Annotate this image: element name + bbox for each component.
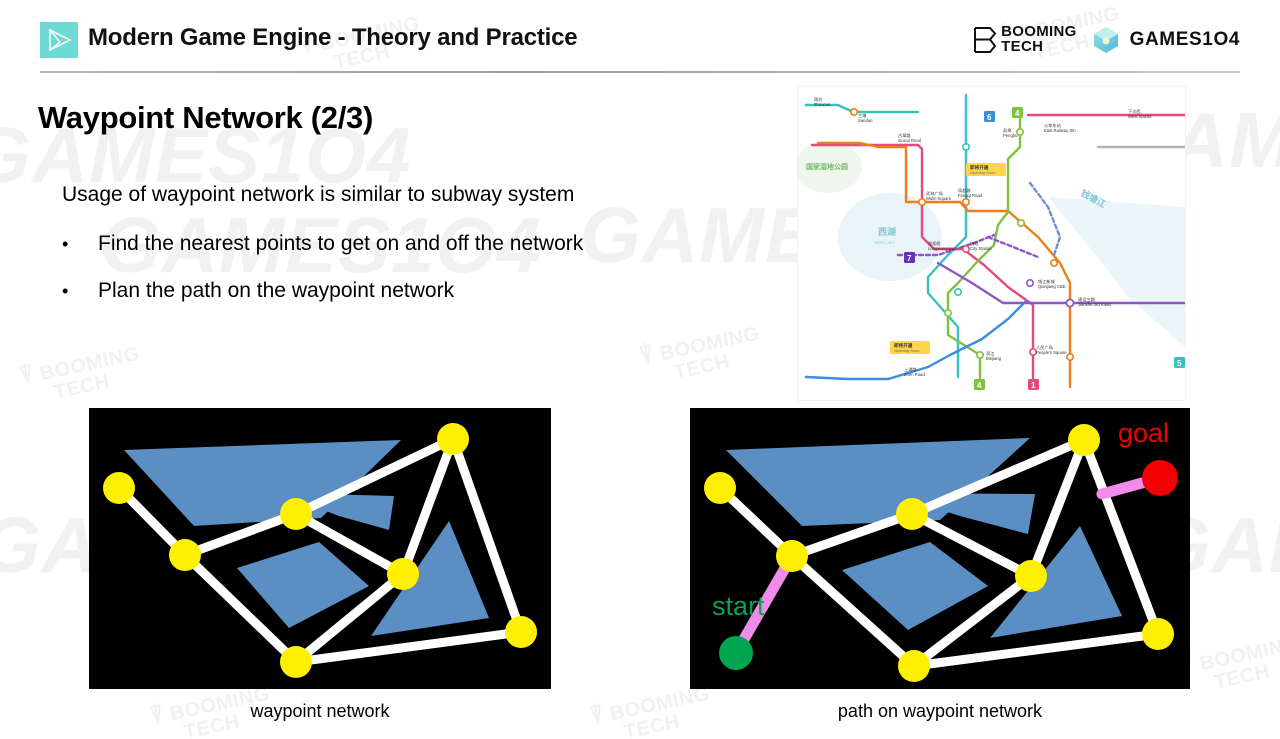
svg-text:City Station: City Station [970,246,992,251]
map-label-west-lake-en: West Lake [874,240,896,245]
figure-caption-right: path on waypoint network [690,701,1190,722]
svg-text:Pengbu: Pengbu [1003,133,1018,138]
svg-text:4: 4 [977,381,982,390]
svg-text:Zhen Road: Zhen Road [904,372,925,377]
slide-header: Modern Game Engine - Theory and Practice… [0,0,1280,73]
lead-paragraph: Usage of waypoint network is similar to … [62,183,574,207]
path-on-waypoint-network-svg: start goal [690,408,1190,689]
svg-text:Jianshe 3rd Road: Jianshe 3rd Road [1078,302,1111,307]
booming-mark-icon: ⍒ [586,700,607,730]
waypoint-node [704,472,736,504]
watermark-booming-tech: ⍒BOOMINGTECH [1176,628,1280,701]
svg-text:6: 6 [987,113,992,122]
list-item: • Plan the path on the waypoint network [62,279,583,303]
waypoint-node [437,423,469,455]
page-title: Waypoint Network (2/3) [38,100,373,136]
start-node [719,636,753,670]
figure-caption-left: waypoint network [89,701,551,722]
map-label-west-lake: 西湖 [878,226,896,237]
svg-text:5: 5 [1177,359,1182,368]
waypoint-node [776,540,808,572]
bullet-marker-icon: • [62,282,98,300]
svg-text:People's Square: People's Square [1036,350,1067,355]
waypoint-node [1068,424,1100,456]
waypoint-node [1015,560,1047,592]
svg-text:Binjiang: Binjiang [986,356,1002,361]
svg-text:Longxiangqiao: Longxiangqiao [928,246,956,251]
waypoint-node [280,646,312,678]
svg-text:West Xiasha: West Xiasha [1128,114,1152,119]
goal-node [1142,460,1178,496]
header-divider [40,71,1240,73]
waypoint-node [103,472,135,504]
waypoint-node [896,498,928,530]
waypoint-node [505,616,537,648]
svg-text:East Railway Stn: East Railway Stn [1044,128,1076,133]
subway-map-svg: 西湖 West Lake 钱塘江 国家湿地公园 [798,87,1185,400]
booming-tech-wordmark: BOOMING TECH [1001,25,1076,54]
watermark-booming-tech: ⍒BOOMINGTECH [636,318,766,391]
waypoint-node [387,558,419,590]
svg-text:Guicui Road: Guicui Road [898,138,922,143]
waypoint-node [169,539,201,571]
west-lake-area [838,193,942,281]
figure-path-on-waypoint-network: start goal [690,408,1190,689]
svg-text:1: 1 [1031,381,1036,390]
svg-text:Zhoucun: Zhoucun [814,102,831,107]
svg-text:Wulin Square: Wulin Square [926,196,952,201]
svg-text:Sandun: Sandun [858,118,873,123]
goal-label: goal [1118,418,1169,448]
bullet-marker-icon: • [62,235,98,253]
svg-text:4: 4 [1015,109,1020,118]
booming-mark-icon: ⍒ [16,360,37,390]
bullet-text: Find the nearest points to get on and of… [98,232,583,256]
header-title: Modern Game Engine - Theory and Practice [88,24,577,52]
svg-text:Opening Soon: Opening Soon [894,348,920,353]
figure-waypoint-network [89,408,551,689]
subway-map-image: 西湖 West Lake 钱塘江 国家湿地公园 [797,86,1186,401]
start-label: start [712,591,765,621]
waypoint-node [1142,618,1174,650]
games104-wordmark: GAMES1O4 [1130,29,1240,51]
svg-text:Opening Soon: Opening Soon [970,170,996,175]
waypoint-node [280,498,312,530]
map-label-park: 国家湿地公园 [806,162,848,171]
games104-logo: GAMES1O4 [1091,25,1240,55]
booming-mark-icon: ⍒ [636,340,657,370]
bullet-list: • Find the nearest points to get on and … [62,232,583,326]
watermark-booming-tech: ⍒BOOMINGTECH [16,338,146,411]
list-item: • Find the nearest points to get on and … [62,232,583,256]
svg-text:7: 7 [907,254,912,263]
bullet-text: Plan the path on the waypoint network [98,279,454,303]
cube-icon [1091,25,1121,55]
booming-tech-logo: BOOMING TECH [973,25,1076,54]
play-triangle-icon [46,28,72,52]
booming-b-mark-icon [973,27,997,53]
svg-text:Qianjiang CBD: Qianjiang CBD [1038,284,1066,289]
svg-text:Fengqi Road: Fengqi Road [958,193,983,198]
waypoint-network-svg [89,408,551,689]
brand-group: BOOMING TECH GAMES1O4 [973,25,1240,55]
waypoint-node [898,650,930,682]
header-logo [40,22,78,58]
